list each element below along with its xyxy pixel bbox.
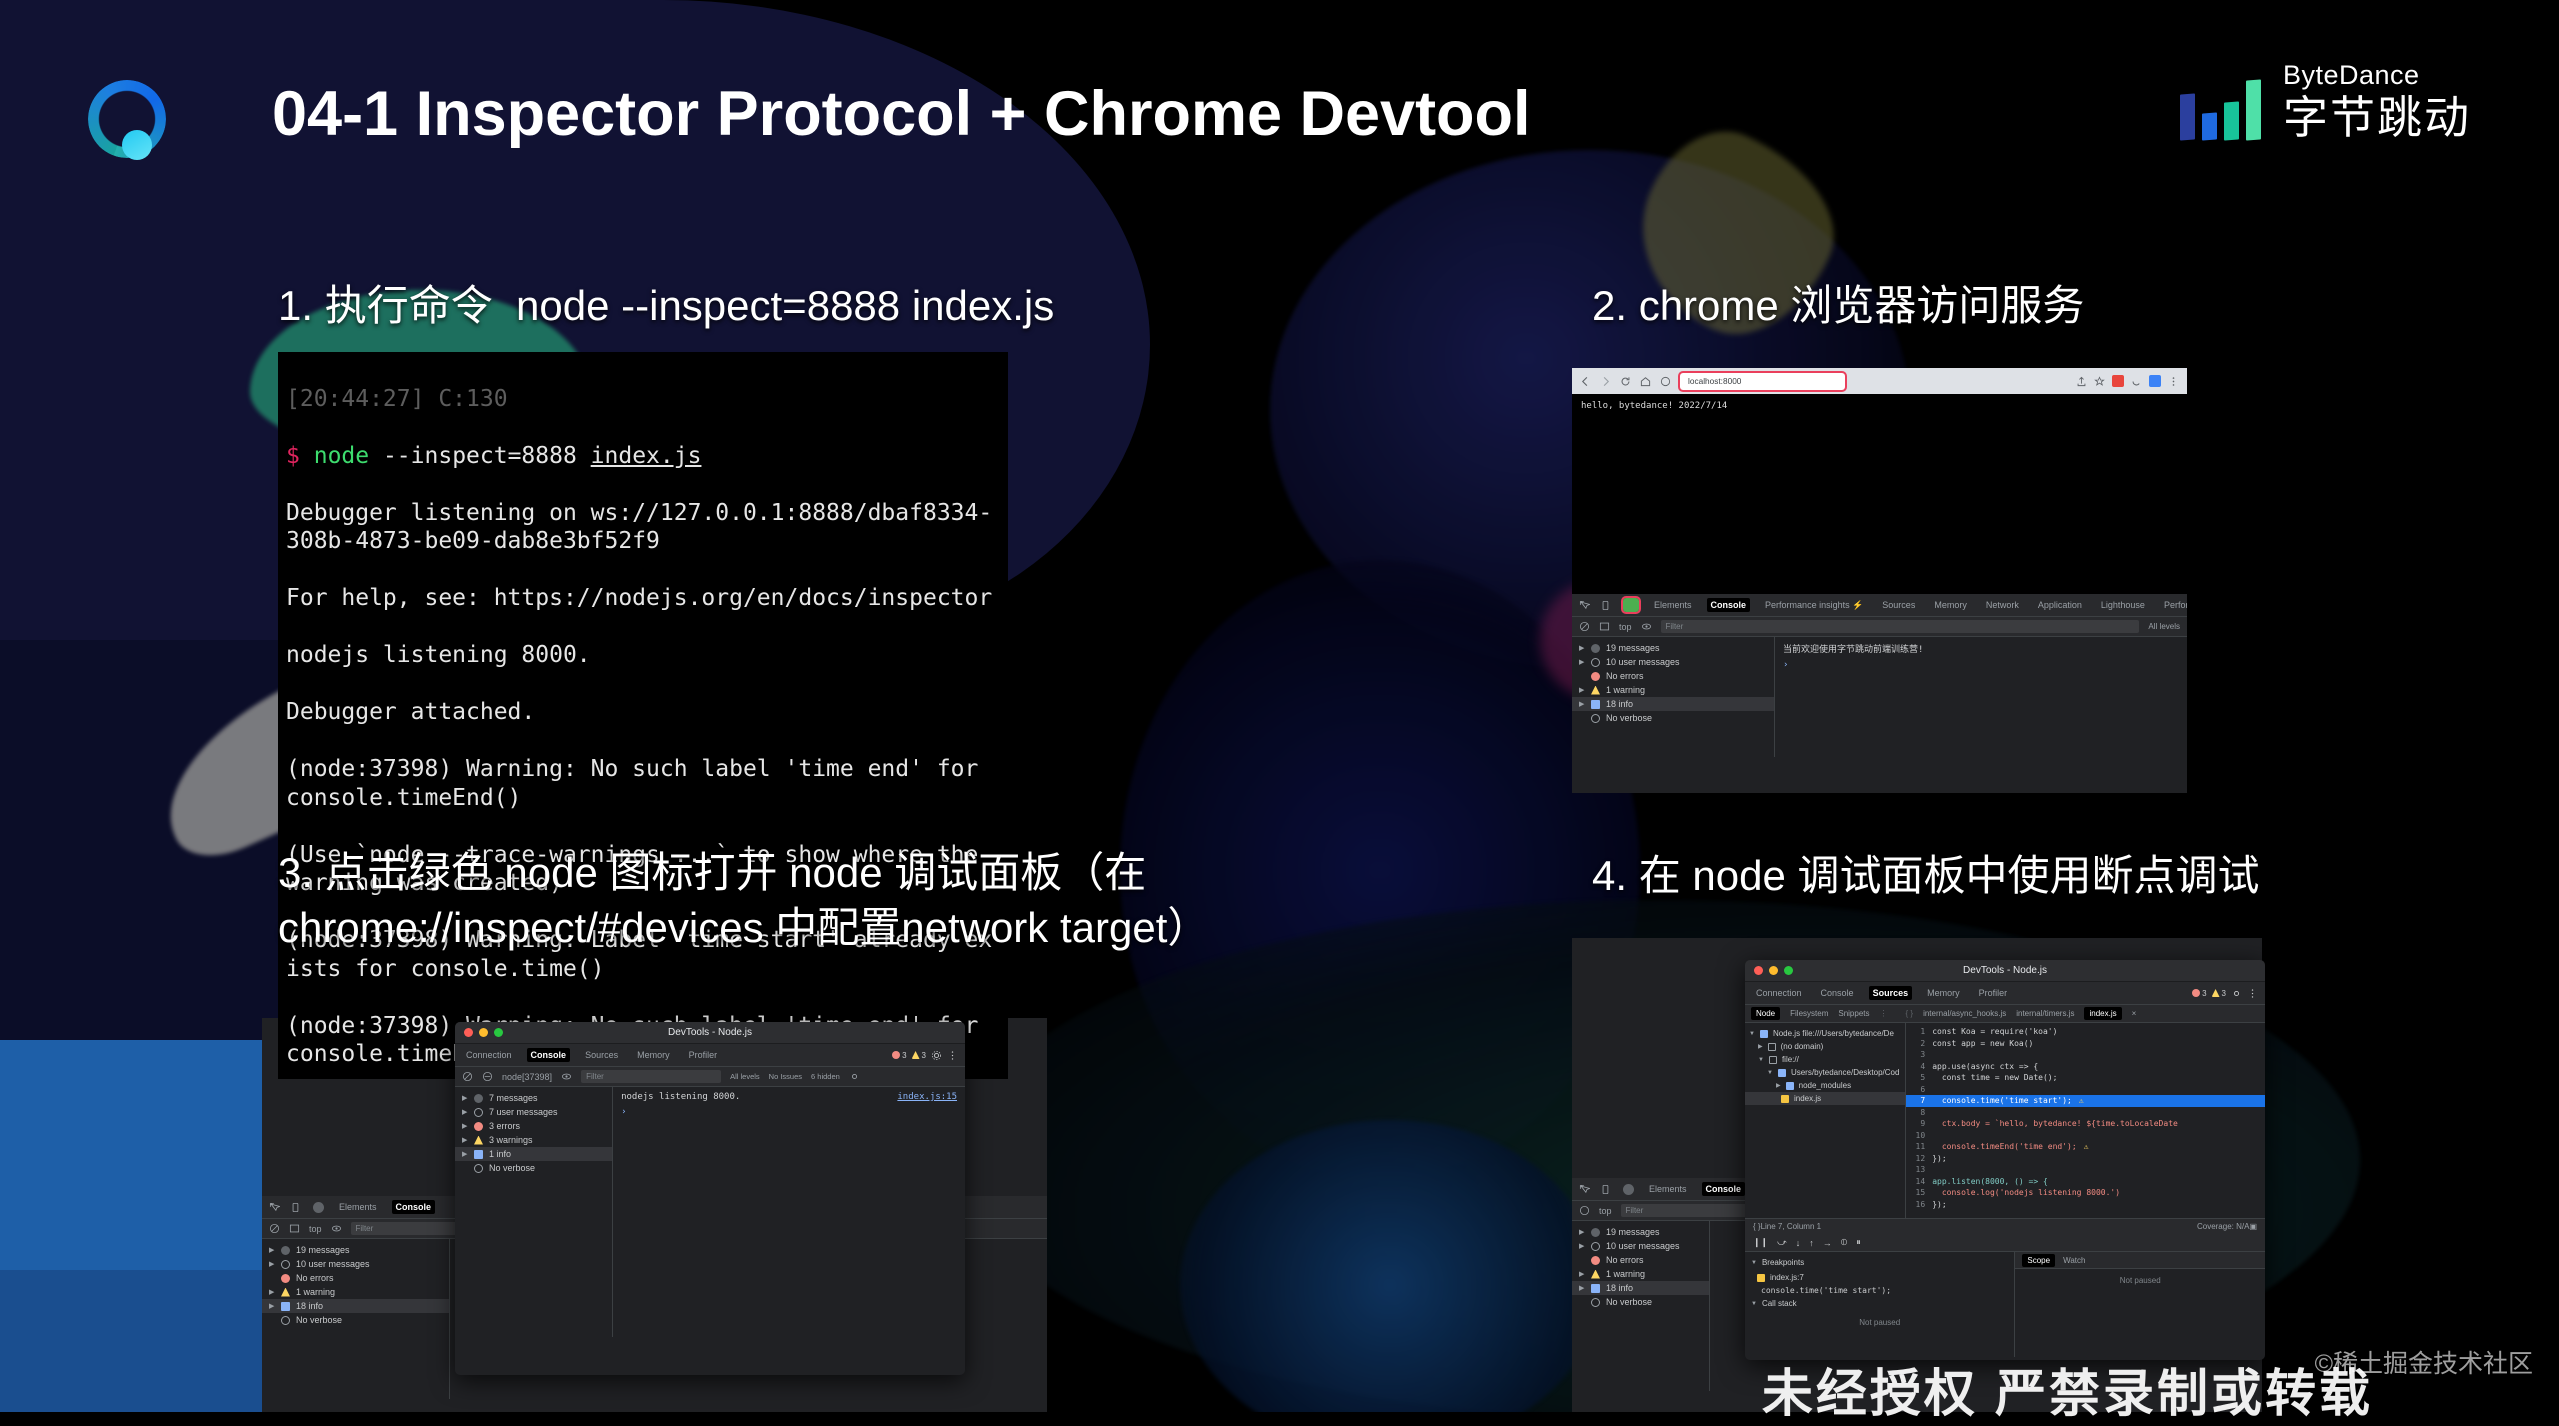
console-sidebar-item-messages[interactable]: ▶ 19 messages xyxy=(1572,641,1774,655)
folder-icon xyxy=(1778,1069,1786,1077)
list-icon xyxy=(1591,644,1600,653)
scope-state: Not paused xyxy=(2015,1269,2265,1292)
step-out-icon[interactable]: ↑ xyxy=(1809,1238,1814,1248)
console-sidebar-item-info[interactable]: ▶ 18 info xyxy=(1572,697,1774,711)
inspect-console-sidebar[interactable]: ▶19 messages ▶10 user messages No errors… xyxy=(262,1239,450,1399)
tree-node-index-js[interactable]: index.js xyxy=(1745,1092,1905,1105)
devtools-tab-performance[interactable]: Performance xyxy=(2160,598,2187,612)
devtools-node-titlebar[interactable]: DevTools - Node.js xyxy=(455,1022,965,1044)
scope-watch-tabs[interactable]: Scope Watch xyxy=(2015,1252,2265,1269)
console-sidebar-item-verbose[interactable]: No verbose xyxy=(1572,711,1774,725)
expand-arrow-icon[interactable]: ▶ xyxy=(1579,1270,1585,1278)
share-icon[interactable] xyxy=(2076,376,2087,387)
terminal-prompt: $ xyxy=(286,443,300,469)
profile-icon[interactable] xyxy=(2149,375,2161,387)
line-text: app.use(async ctx => { xyxy=(1932,1061,2038,1073)
inspect-console-filter-placeholder: Filter xyxy=(356,1224,374,1233)
code-line: 15 console.log('nodejs listening 8000.') xyxy=(1906,1187,2265,1199)
ring-logo-icon xyxy=(88,80,166,158)
inspect-sidebar-item-warnings[interactable]: ▶1 warning xyxy=(262,1285,449,1299)
tab-scope[interactable]: Scope xyxy=(2022,1254,2055,1267)
line-text: app.listen(8000, () => { xyxy=(1932,1176,2048,1188)
line-text: }); xyxy=(1932,1153,1946,1165)
sidebar-label: No verbose xyxy=(489,1163,535,1173)
extension-icon[interactable] xyxy=(2112,375,2124,387)
close-icon xyxy=(464,1028,473,1037)
arrow-left-icon[interactable] xyxy=(1580,376,1591,387)
console-filter-input[interactable]: Filter xyxy=(1661,620,2140,633)
warning-icon xyxy=(912,1051,920,1059)
sidebar-label: No verbose xyxy=(1606,1297,1652,1307)
breakpoints-label: Breakpoints xyxy=(1762,1258,1804,1267)
devtools-tab-network[interactable]: Network xyxy=(1982,598,2023,612)
green-node-icon[interactable] xyxy=(1623,598,1639,612)
sidebar-label: 18 info xyxy=(296,1301,323,1311)
step4-bg-context[interactable]: top xyxy=(1599,1206,1612,1216)
warning-icon: ⚠ xyxy=(2079,1095,2084,1107)
tree-node-label: file:// xyxy=(1782,1055,1799,1064)
node-icon xyxy=(1760,1030,1768,1038)
line-number: 7 xyxy=(1912,1095,1925,1107)
console-context-selector[interactable]: top xyxy=(1619,622,1632,632)
breakpoint-file: index.js:7 xyxy=(1770,1273,1804,1282)
expand-arrow-icon: ▶ xyxy=(1758,1043,1763,1050)
clear-console-icon[interactable] xyxy=(1579,621,1590,632)
line-number: 4 xyxy=(1912,1061,1925,1073)
sidebar-label: 19 messages xyxy=(1606,1227,1660,1237)
page-title: 04-1 Inspector Protocol + Chrome Devtool xyxy=(272,78,1531,150)
node-sidebar-item-messages[interactable]: ▶7 messages xyxy=(455,1091,612,1105)
gear-icon[interactable] xyxy=(2231,988,2242,999)
devtools-tab-sources[interactable]: Sources xyxy=(1878,598,1919,612)
sidebar-label: No verbose xyxy=(296,1315,342,1325)
collapse-arrow-icon: ▼ xyxy=(1758,1057,1764,1063)
step4-bg-item-verbose[interactable]: No verbose xyxy=(1572,1295,1709,1309)
sources-tab-profiler[interactable]: Profiler xyxy=(1975,986,2012,1000)
devtools-tabbar[interactable]: Elements Console Performance insights ⚡ … xyxy=(1572,594,2187,617)
tree-node-desktop-folder[interactable]: ▼Users/bytedance/Desktop/Cod xyxy=(1745,1066,1905,1079)
node-sidebar-item-errors[interactable]: ▶3 errors xyxy=(455,1119,612,1133)
user-icon xyxy=(1591,1242,1600,1251)
node-console-context[interactable]: node[37398] xyxy=(502,1072,552,1082)
sidebar-label: No errors xyxy=(1606,1255,1644,1265)
node-console-issues[interactable]: No Issues xyxy=(769,1072,802,1081)
breakpoint-entry[interactable]: index.js:7 xyxy=(1745,1270,2014,1285)
verbose-icon xyxy=(281,1316,290,1325)
console-prompt-caret[interactable]: › xyxy=(621,1107,957,1117)
inspect-sidebar-item-errors[interactable]: No errors xyxy=(262,1271,449,1285)
expand-arrow-icon[interactable]: ▶ xyxy=(462,1108,468,1116)
device-toggle-icon[interactable] xyxy=(1601,1184,1612,1195)
tree-node-no-domain[interactable]: ▶(no domain) xyxy=(1745,1040,1905,1053)
browser-toolbar-right[interactable] xyxy=(2076,375,2179,387)
eye-icon[interactable] xyxy=(1641,621,1652,632)
sources-tab-connection[interactable]: Connection xyxy=(1752,986,1806,1000)
line-number: 6 xyxy=(1912,1084,1925,1096)
toggle-drawer-icon[interactable]: ▣ xyxy=(2249,1222,2257,1231)
eye-icon[interactable] xyxy=(331,1223,342,1234)
devtools-node-console-toolbar[interactable]: node[37398] Filter All levels No Issues … xyxy=(455,1067,965,1087)
user-icon xyxy=(1591,658,1600,667)
sidebar-label: 10 user messages xyxy=(1606,1241,1680,1251)
error-icon xyxy=(1591,672,1600,681)
warning-badge[interactable]: 3 xyxy=(2212,989,2226,998)
user-icon xyxy=(281,1260,290,1269)
reload-icon[interactable] xyxy=(1620,376,1631,387)
callstack-section-header[interactable]: ▼Call stack xyxy=(1745,1296,2014,1311)
devtools-node-console-window[interactable]: DevTools - Node.js Connection Console So… xyxy=(455,1022,965,1375)
coverage-status: Coverage: N/A xyxy=(2197,1222,2249,1231)
step4-bg-tab-elements[interactable]: Elements xyxy=(1645,1182,1691,1196)
tree-node-root[interactable]: ▼Node.js file:///Users/bytedance/De xyxy=(1745,1027,1905,1040)
kebab-menu-icon[interactable] xyxy=(947,1050,958,1061)
node-sidebar-item-info[interactable]: ▶1 info xyxy=(455,1147,612,1161)
line-number: 10 xyxy=(1912,1130,1925,1142)
step4-bg-item-warnings[interactable]: ▶1 warning xyxy=(1572,1267,1709,1281)
step-3: 3. 点击绿色 node 图标打开 node 调试面板（在 chrome://i… xyxy=(278,845,1378,956)
devtools-tab-elements[interactable]: Elements xyxy=(1650,598,1696,612)
devtools-node-console-body: ▶7 messages ▶7 user messages ▶3 errors ▶… xyxy=(455,1087,965,1337)
pause-icon[interactable]: ❙❙ xyxy=(1753,1237,1768,1248)
verbose-icon xyxy=(1591,1298,1600,1307)
devtools-node-window-title: DevTools - Node.js xyxy=(455,1027,965,1038)
terminal-line-4: (node:37398) Warning: No such label 'tim… xyxy=(286,756,992,811)
inspect-icon[interactable] xyxy=(1579,1184,1590,1195)
settings-icon[interactable] xyxy=(849,1071,860,1082)
expand-arrow-icon[interactable]: ▶ xyxy=(269,1246,275,1254)
expand-arrow-icon[interactable]: ▶ xyxy=(1579,1284,1585,1292)
sources-status-bar: { } Line 7, Column 1 Coverage: N/A ▣ xyxy=(1745,1218,2265,1234)
format-braces-icon[interactable]: { } xyxy=(1753,1222,1761,1231)
browser-toolbar[interactable]: localhost:8000 xyxy=(1572,368,2187,394)
inspect-console-context[interactable]: top xyxy=(309,1224,322,1234)
console-levels-selector[interactable]: All levels xyxy=(2148,622,2180,631)
code-line: 11 console.timeEnd('time end');⚠ xyxy=(1906,1141,2265,1153)
file-tab-async-hooks[interactable]: internal/async_hooks.js xyxy=(1923,1009,2006,1018)
window-controls[interactable] xyxy=(1754,966,1793,975)
step4-bg-item-info[interactable]: ▶18 info xyxy=(1572,1281,1709,1295)
terminal-output: [20:44:27] C:130 $ node --inspect=8888 i… xyxy=(278,352,1008,1079)
sidebar-label: 19 messages xyxy=(296,1245,350,1255)
code-line: 12}); xyxy=(1906,1153,2265,1165)
device-toggle-icon[interactable] xyxy=(291,1202,302,1213)
code-line-breakpoint[interactable]: 7 console.time('time start');⚠ xyxy=(1906,1095,2265,1107)
devtools-node-tabbar[interactable]: Connection Console Sources Memory Profil… xyxy=(455,1044,965,1067)
code-format-icon[interactable]: { } xyxy=(1906,1009,1914,1018)
devtools-node-sources-window[interactable]: DevTools - Node.js Connection Console So… xyxy=(1745,960,2265,1360)
callstack-state: Not paused xyxy=(1745,1311,2014,1334)
line-number: 5 xyxy=(1912,1072,1925,1084)
console-sidebar-label: No verbose xyxy=(1606,713,1652,723)
clear-console-icon[interactable] xyxy=(462,1071,473,1082)
expand-arrow-icon: ▶ xyxy=(1776,1082,1781,1089)
close-icon xyxy=(1754,966,1763,975)
devtools-tab-application[interactable]: Application xyxy=(2034,598,2086,612)
list-icon xyxy=(281,1246,290,1255)
line-text: const time = new Date(); xyxy=(1932,1072,2057,1084)
error-badge[interactable]: 3 xyxy=(2192,989,2206,998)
verbose-icon xyxy=(1591,714,1600,723)
sources-tab-sources[interactable]: Sources xyxy=(1869,986,1913,1000)
nav-tab-snippets[interactable]: Snippets xyxy=(1838,1009,1869,1018)
terminal-scrollback: [20:44:27] C:130 xyxy=(286,386,508,412)
console-prompt-caret[interactable]: › xyxy=(1783,660,2179,670)
line-number: 3 xyxy=(1912,1049,1925,1061)
code-line: 10 xyxy=(1906,1130,2265,1142)
node-tab-profiler[interactable]: Profiler xyxy=(685,1048,722,1062)
sidebar-label: 7 user messages xyxy=(489,1107,558,1117)
expand-arrow-icon[interactable]: ▶ xyxy=(269,1288,275,1296)
bar-chart-icon xyxy=(2180,68,2261,140)
expand-arrow-icon[interactable]: ▶ xyxy=(462,1150,468,1158)
scope-panel[interactable]: Scope Watch Not paused xyxy=(2015,1252,2265,1357)
warning-icon xyxy=(281,1288,290,1297)
step-icon[interactable]: → xyxy=(1823,1238,1832,1248)
console-sidebar-item-user-messages[interactable]: ▶ 10 user messages xyxy=(1572,655,1774,669)
line-text: console.timeEnd('time end'); xyxy=(1932,1141,2077,1153)
sidebar-label: No errors xyxy=(296,1273,334,1283)
issue-badges[interactable]: 3 3 xyxy=(892,1050,958,1061)
console-sidebar-label: 10 user messages xyxy=(1606,657,1680,667)
sources-issue-badges[interactable]: 3 3 xyxy=(2192,988,2258,999)
list-icon xyxy=(1591,1228,1600,1237)
expand-arrow-icon[interactable]: ▶ xyxy=(462,1136,468,1144)
sources-tab-memory[interactable]: Memory xyxy=(1923,986,1964,1000)
sources-tabbar[interactable]: Connection Console Sources Memory Profil… xyxy=(1745,982,2265,1005)
sources-window-titlebar[interactable]: DevTools - Node.js xyxy=(1745,960,2265,982)
line-number: 13 xyxy=(1912,1164,1925,1176)
info-icon xyxy=(281,1302,290,1311)
node-sidebar-item-verbose[interactable]: No verbose xyxy=(455,1161,612,1175)
sources-nav-tabs[interactable]: Node Filesystem Snippets ⋮ { } internal/… xyxy=(1745,1005,2265,1023)
node-console-filter-placeholder: Filter xyxy=(586,1072,604,1081)
devtools-console-body: ▶ 19 messages ▶ 10 user messages No erro… xyxy=(1572,637,2187,757)
cloud-icon xyxy=(1769,1056,1777,1064)
code-line: 9 ctx.body = `hello, bytedance! ${time.t… xyxy=(1906,1118,2265,1130)
node-tab-console[interactable]: Console xyxy=(527,1048,571,1062)
deactivate-breakpoints-icon[interactable]: ⦶ xyxy=(1841,1237,1848,1248)
slide-header: 04-1 Inspector Protocol + Chrome Devtool… xyxy=(0,0,2559,190)
line-number: 12 xyxy=(1912,1153,1925,1165)
close-tab-icon[interactable]: × xyxy=(2132,1009,2137,1018)
debugger-panels: ▼Breakpoints index.js:7 console.time('ti… xyxy=(1745,1252,2265,1357)
step-4-title: 4. 在 node 调试面板中使用断点调试 xyxy=(1592,848,2492,903)
inspect-devtools-tab-elements[interactable]: Elements xyxy=(335,1200,381,1214)
node-tab-sources[interactable]: Sources xyxy=(581,1048,622,1062)
device-toggle-icon[interactable] xyxy=(1601,600,1612,611)
step-1-title: 1. 执行命令 node --inspect=8888 index.js xyxy=(278,278,1398,333)
line-text: console.time('time start'); xyxy=(1932,1095,2072,1107)
line-number: 15 xyxy=(1912,1187,1925,1199)
nav-tab-filesystem[interactable]: Filesystem xyxy=(1790,1009,1828,1018)
sources-window-title: DevTools - Node.js xyxy=(1745,965,2265,976)
step4-bg-item-messages[interactable]: ▶19 messages xyxy=(1572,1225,1709,1239)
pause-on-exceptions-icon[interactable]: ⏸ xyxy=(1856,1237,1861,1248)
tree-node-node-modules[interactable]: ▶node_modules xyxy=(1745,1079,1905,1092)
collapse-arrow-icon: ▼ xyxy=(1751,1260,1757,1266)
step-over-icon[interactable]: ⤻ xyxy=(1777,1237,1787,1248)
address-bar[interactable]: localhost:8000 xyxy=(1680,373,1845,390)
line-number: 1 xyxy=(1912,1026,1925,1038)
star-icon[interactable] xyxy=(2094,376,2105,387)
tree-node-file-protocol[interactable]: ▼file:// xyxy=(1745,1053,1905,1066)
console-output: 当前欢迎使用字节跳动前端训练营! › xyxy=(1775,637,2187,757)
sources-file-tree[interactable]: ▼Node.js file:///Users/bytedance/De ▶(no… xyxy=(1745,1023,1906,1218)
expand-arrow-icon[interactable]: ▶ xyxy=(1579,700,1585,708)
warning-icon xyxy=(2212,989,2220,997)
window-controls[interactable] xyxy=(464,1028,503,1037)
info-circle-icon[interactable] xyxy=(1660,376,1671,387)
file-tab-timers[interactable]: internal/timers.js xyxy=(2016,1009,2074,1018)
folder-icon xyxy=(1786,1082,1794,1090)
node-sidebar-item-warnings[interactable]: ▶3 warnings xyxy=(455,1133,612,1147)
no-entry-icon[interactable] xyxy=(482,1071,493,1082)
console-sidebar-label: 19 messages xyxy=(1606,643,1660,653)
expand-arrow-icon[interactable]: ▶ xyxy=(1579,644,1585,652)
warning-icon: ⚠ xyxy=(2084,1141,2089,1153)
error-badge[interactable]: 3 xyxy=(892,1051,906,1060)
sidebar-label: 3 errors xyxy=(489,1121,520,1131)
warning-icon xyxy=(474,1136,483,1145)
error-count: 3 xyxy=(2202,989,2206,998)
sources-tab-console[interactable]: Console xyxy=(1817,986,1858,1000)
file-tab-index[interactable]: index.js xyxy=(2084,1007,2121,1020)
expand-arrow-icon[interactable]: ▶ xyxy=(269,1302,275,1310)
breakpoints-section-header[interactable]: ▼Breakpoints xyxy=(1745,1255,2014,1270)
nav-tab-node[interactable]: Node xyxy=(1751,1007,1780,1020)
inspect-sidebar-item-verbose[interactable]: No verbose xyxy=(262,1313,449,1327)
console-sidebar[interactable]: ▶ 19 messages ▶ 10 user messages No erro… xyxy=(1572,637,1775,757)
arrow-right-icon[interactable] xyxy=(1600,376,1611,387)
expand-arrow-icon[interactable]: ▶ xyxy=(462,1122,468,1130)
clear-console-icon[interactable] xyxy=(269,1223,280,1234)
callstack-label: Call stack xyxy=(1762,1299,1797,1308)
step-1: 1. 执行命令 node --inspect=8888 index.js xyxy=(278,278,1398,333)
tree-node-label: node_modules xyxy=(1799,1081,1851,1090)
node-console-levels[interactable]: All levels xyxy=(730,1072,760,1081)
devtools-console-toolbar[interactable]: top Filter All levels xyxy=(1572,617,2187,637)
terminal-command-args: --inspect=8888 xyxy=(369,443,591,469)
step4-bg-item-errors[interactable]: No errors xyxy=(1572,1253,1709,1267)
inspect-sidebar-item-user-messages[interactable]: ▶10 user messages xyxy=(262,1257,449,1271)
sidebar-label: 3 warnings xyxy=(489,1135,533,1145)
terminal-line-1: For help, see: https://nodejs.org/en/doc… xyxy=(286,585,992,611)
gear-icon[interactable] xyxy=(931,1050,942,1061)
inspect-devtools-tab-console[interactable]: Console xyxy=(392,1200,436,1214)
terminal-command: node xyxy=(314,443,369,469)
devtools-tab-performance-insights[interactable]: Performance insights ⚡ xyxy=(1761,598,1867,613)
step4-bg-tab-console[interactable]: Console xyxy=(1702,1182,1746,1196)
code-line: 14app.listen(8000, () => { xyxy=(1906,1176,2265,1188)
nav-more-icon[interactable]: ⋮ xyxy=(1880,1009,1888,1018)
brand-name-en: ByteDance xyxy=(2283,60,2471,91)
step4-bg-sidebar[interactable]: ▶19 messages ▶10 user messages No errors… xyxy=(1572,1221,1710,1391)
node-tab-memory[interactable]: Memory xyxy=(633,1048,674,1062)
node-tab-connection[interactable]: Connection xyxy=(462,1048,516,1062)
console-sidebar-item-warnings[interactable]: ▶ 1 warning xyxy=(1572,683,1774,697)
node-console-log-source[interactable]: index.js:15 xyxy=(897,1092,957,1102)
error-icon xyxy=(281,1274,290,1283)
cloud-icon xyxy=(1768,1043,1776,1051)
error-count: 3 xyxy=(902,1051,906,1060)
sidebar-label: 7 messages xyxy=(489,1093,538,1103)
expand-arrow-icon[interactable]: ▶ xyxy=(1579,1242,1585,1250)
inspect-icon[interactable] xyxy=(1579,600,1590,611)
expand-arrow-icon[interactable]: ▶ xyxy=(1579,1228,1585,1236)
browser-page-text: hello, bytedance! 2022/7/14 xyxy=(1572,394,2187,418)
console-sidebar-item-errors[interactable]: No errors xyxy=(1572,669,1774,683)
step-into-icon[interactable]: ↓ xyxy=(1796,1238,1801,1248)
expand-arrow-icon[interactable]: ▶ xyxy=(462,1094,468,1102)
terminal-line-3: Debugger attached. xyxy=(286,699,535,725)
clear-console-icon[interactable] xyxy=(1579,1205,1590,1216)
node-console-hidden[interactable]: 6 hidden xyxy=(811,1072,840,1081)
expand-arrow-icon[interactable]: ▶ xyxy=(1579,658,1585,666)
tab-watch[interactable]: Watch xyxy=(2063,1256,2085,1265)
error-icon xyxy=(892,1051,900,1059)
code-line: 8 xyxy=(1906,1107,2265,1119)
list-icon xyxy=(474,1094,483,1103)
code-line: 1const Koa = require('koa') xyxy=(1906,1026,2265,1038)
sidebar-toggle-icon[interactable] xyxy=(1599,621,1610,632)
collapse-arrow-icon: ▼ xyxy=(1749,1031,1755,1037)
verbose-icon xyxy=(474,1164,483,1173)
node-icon[interactable] xyxy=(1623,1184,1634,1195)
devtools-tab-console[interactable]: Console xyxy=(1707,598,1751,612)
debugger-toolbar[interactable]: ❙❙ ⤻ ↓ ↑ → ⦶ ⏸ xyxy=(1745,1234,2265,1252)
menu-icon[interactable] xyxy=(2168,376,2179,387)
node-icon[interactable] xyxy=(313,1202,324,1213)
home-icon[interactable] xyxy=(1640,376,1651,387)
line-number: 8 xyxy=(1912,1107,1925,1119)
line-number: 16 xyxy=(1912,1199,1925,1211)
line-number: 9 xyxy=(1912,1118,1925,1130)
step4-bg-filter-placeholder: Filter xyxy=(1626,1206,1644,1215)
inspect-sidebar-item-info[interactable]: ▶18 info xyxy=(262,1299,449,1313)
line-text: ctx.body = `hello, bytedance! ${time.toL… xyxy=(1932,1118,2178,1130)
sync-icon[interactable] xyxy=(2131,376,2142,387)
inspect-sidebar-item-messages[interactable]: ▶19 messages xyxy=(262,1243,449,1257)
code-line: 2const app = new Koa() xyxy=(1906,1038,2265,1050)
code-line: 6 xyxy=(1906,1084,2265,1096)
expand-arrow-icon[interactable]: ▶ xyxy=(1579,686,1585,694)
expand-arrow-icon[interactable]: ▶ xyxy=(269,1260,275,1268)
inspect-icon[interactable] xyxy=(269,1202,280,1213)
warning-badge[interactable]: 3 xyxy=(912,1051,926,1060)
devtools-tab-memory[interactable]: Memory xyxy=(1930,598,1971,612)
kebab-menu-icon[interactable] xyxy=(2247,988,2258,999)
node-console-output: nodejs listening 8000. index.js:15 › xyxy=(613,1087,965,1337)
collapse-arrow-icon: ▼ xyxy=(1767,1070,1773,1076)
console-sidebar-label: 1 warning xyxy=(1606,685,1645,695)
browser-screenshot[interactable]: localhost:8000 hello, bytedance! 2022/7/… xyxy=(1572,368,2187,793)
devtools-tab-lighthouse[interactable]: Lighthouse xyxy=(2097,598,2149,612)
minimize-icon xyxy=(479,1028,488,1037)
breakpoints-panel[interactable]: ▼Breakpoints index.js:7 console.time('ti… xyxy=(1745,1252,2015,1357)
sidebar-toggle-icon[interactable] xyxy=(289,1223,300,1234)
node-console-filter-input[interactable]: Filter xyxy=(581,1070,721,1083)
node-console-sidebar[interactable]: ▶7 messages ▶7 user messages ▶3 errors ▶… xyxy=(455,1087,613,1337)
warning-icon xyxy=(1591,1270,1600,1279)
source-code-viewer[interactable]: 1const Koa = require('koa') 2const app =… xyxy=(1906,1023,2265,1218)
node-sidebar-item-user-messages[interactable]: ▶7 user messages xyxy=(455,1105,612,1119)
console-sidebar-label: No errors xyxy=(1606,671,1644,681)
step4-bg-item-user-messages[interactable]: ▶10 user messages xyxy=(1572,1239,1709,1253)
browser-page-body: hello, bytedance! 2022/7/14 xyxy=(1572,394,2187,594)
eye-icon[interactable] xyxy=(561,1071,572,1082)
sidebar-label: 1 warning xyxy=(1606,1269,1645,1279)
warning-icon xyxy=(1591,686,1600,695)
